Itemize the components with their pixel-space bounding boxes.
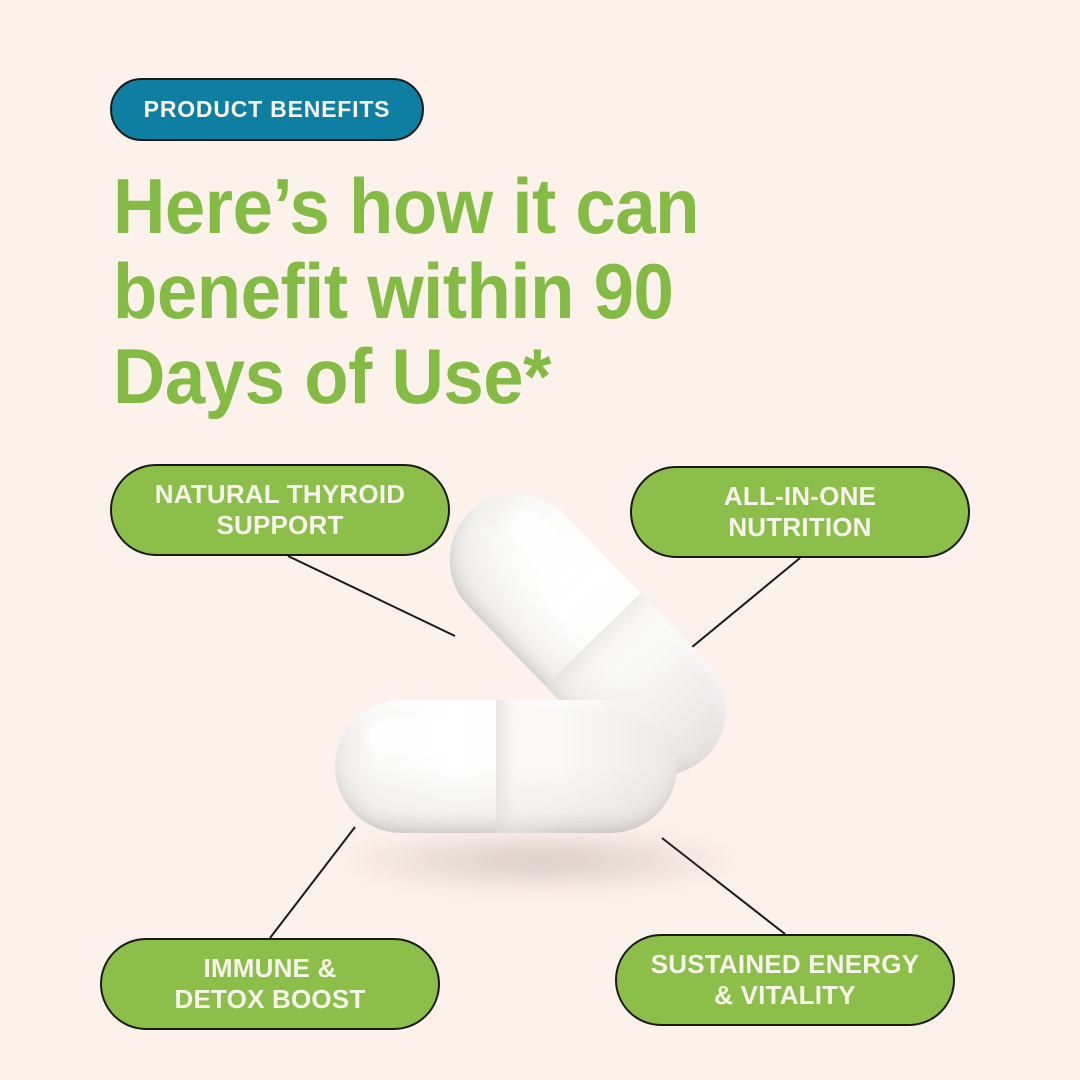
benefit-label: NATURAL THYROID SUPPORT: [155, 479, 405, 541]
benefit-label: SUSTAINED ENERGY & VITALITY: [651, 949, 920, 1011]
benefit-pill-sustained-energy-vitality: SUSTAINED ENERGY & VITALITY: [615, 934, 955, 1026]
benefit-pill-all-in-one-nutrition: ALL-IN-ONE NUTRITION: [630, 466, 970, 558]
benefit-pill-immune-detox-boost: IMMUNE & DETOX BOOST: [100, 938, 440, 1030]
benefit-label: IMMUNE & DETOX BOOST: [175, 953, 366, 1015]
page-title: Here’s how it can benefit within 90 Days…: [113, 164, 783, 419]
benefit-pill-natural-thyroid-support: NATURAL THYROID SUPPORT: [110, 464, 450, 556]
benefit-label: ALL-IN-ONE NUTRITION: [724, 481, 876, 543]
capsule-drop-shadow: [345, 830, 735, 892]
infographic-canvas: PRODUCT BENEFITS Here’s how it can benef…: [0, 0, 1080, 1080]
product-benefits-badge: PRODUCT BENEFITS: [110, 78, 424, 141]
headline-line-1: Here’s how it can: [113, 164, 783, 249]
headline-line-2: benefit within 90: [113, 249, 783, 334]
capsule-front-seam: [496, 700, 677, 833]
capsule-front: [335, 700, 677, 833]
product-benefits-badge-label: PRODUCT BENEFITS: [144, 98, 391, 121]
headline-line-3: Days of Use*: [113, 334, 783, 419]
product-image: [300, 540, 780, 900]
